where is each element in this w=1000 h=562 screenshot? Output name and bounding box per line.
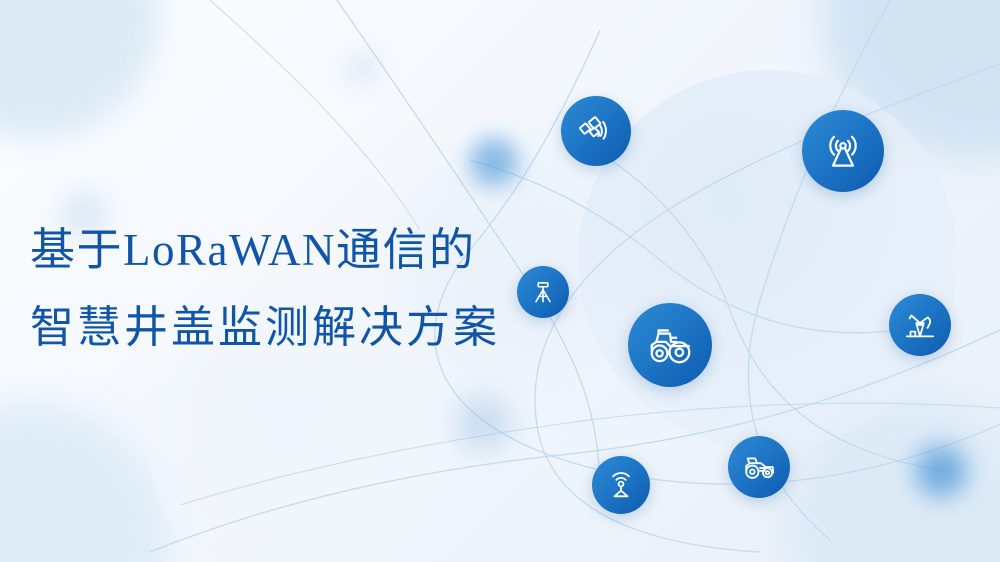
decorative-large-circle xyxy=(578,70,958,450)
harvester-vehicle-icon xyxy=(740,448,778,486)
tractor-icon xyxy=(645,320,695,370)
presentation-cover-slide: 基于LoRaWAN通信的 智慧井盖监测解决方案 xyxy=(0,0,1000,562)
accent-dot-top xyxy=(345,52,379,86)
cover-title: 基于LoRaWAN通信的 智慧井盖监测解决方案 xyxy=(30,228,500,350)
sensor-beacon-icon xyxy=(605,469,637,501)
decorative-blob-bottom-left xyxy=(0,402,170,562)
icon-node-oil-pump[interactable] xyxy=(889,294,951,356)
icon-node-survey-tripod[interactable] xyxy=(517,266,569,318)
decorative-blob-top-left xyxy=(0,0,160,140)
decorative-blob-bottom-right xyxy=(780,392,1000,562)
icon-node-harvester[interactable] xyxy=(728,436,790,498)
accent-dot-lower-center xyxy=(455,395,511,451)
radio-tower-icon xyxy=(820,128,866,174)
icon-node-satellite[interactable] xyxy=(561,96,631,166)
icon-node-antenna-tower[interactable] xyxy=(802,110,884,192)
satellite-dish-icon xyxy=(577,112,615,150)
title-line-secondary: 智慧井盖监测解决方案 xyxy=(30,306,500,350)
icon-node-sensor-beacon[interactable] xyxy=(592,456,650,514)
accent-dot-upper-center xyxy=(470,138,518,186)
survey-tripod-icon xyxy=(529,278,557,306)
icon-node-tractor[interactable] xyxy=(628,303,712,387)
oil-pumpjack-icon xyxy=(902,307,938,343)
title-line-primary: 基于LoRaWAN通信的 xyxy=(30,228,500,273)
accent-dot-lower-right xyxy=(915,445,967,497)
